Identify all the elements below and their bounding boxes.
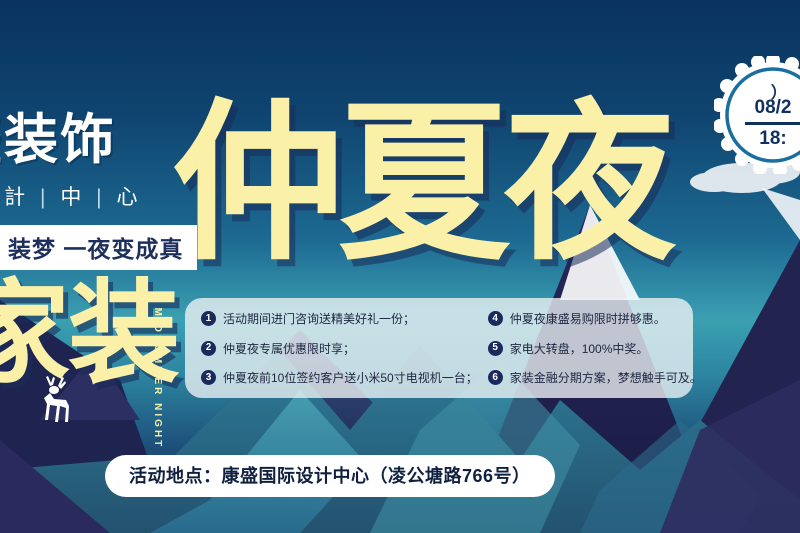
offers-panel: 1 活动期间进门咨询送精美好礼一份； 2 仲夏夜专属优惠限时享； 3 仲夏夜前1… <box>185 298 693 398</box>
brand-name: 盛装饰 <box>0 112 198 169</box>
offer-item: 2 仲夏夜专属优惠限时享； <box>201 340 478 357</box>
date-badge-divider <box>745 122 800 125</box>
offer-text: 家装金融分期方案，梦想触手可及。 <box>510 369 702 386</box>
offer-item: 4 仲夏夜康盛易购限时拼够惠。 <box>488 310 702 327</box>
offer-text: 家电大转盘，100%中奖。 <box>510 340 649 357</box>
offer-text: 仲夏夜康盛易购限时拼够惠。 <box>510 310 666 327</box>
deer-icon <box>28 372 80 426</box>
offer-item: 1 活动期间进门咨询送精美好礼一份； <box>201 310 478 327</box>
offer-number-badge: 2 <box>201 341 216 356</box>
offer-number-badge: 6 <box>488 370 503 385</box>
brand-subtitle-char-3: 心 <box>116 186 138 209</box>
offer-number-badge: 1 <box>201 311 216 326</box>
english-vertical-label: A MIDSUMMER NIGHT <box>152 292 163 449</box>
offer-number-badge: 5 <box>488 341 503 356</box>
offers-column-left: 1 活动期间进门咨询送精美好礼一份； 2 仲夏夜专属优惠限时享； 3 仲夏夜前1… <box>201 310 478 386</box>
offer-text: 仲夏夜专属优惠限时享； <box>223 340 355 357</box>
main-title: 仲夏夜 <box>172 98 670 270</box>
brand-tagline: 装梦 一夜变成真 <box>0 225 197 270</box>
offer-number-badge: 3 <box>201 370 216 385</box>
promo-poster: 家装 仲夏夜 A MIDSUMMER NIGHT 盛装饰 設 | 計 | 中 |… <box>0 0 800 533</box>
brand-subtitle-char-1: 計 <box>4 186 26 209</box>
brand-logo-block: 盛装饰 設 | 計 | 中 | 心 装梦 一夜变成真 <box>0 112 198 270</box>
offer-item: 3 仲夏夜前10位签约客户送小米50寸电视机一台； <box>201 369 478 386</box>
date-badge-time: 18: <box>759 128 786 150</box>
date-badge-top-mark: ） <box>771 79 787 103</box>
offer-item: 5 家电大转盘，100%中奖。 <box>488 340 702 357</box>
offer-text: 仲夏夜前10位签约客户送小米50寸电视机一台； <box>223 369 478 386</box>
separator-2: | <box>96 186 102 209</box>
date-badge: ） 08/2 18: <box>714 56 800 174</box>
offer-number-badge: 4 <box>488 311 503 326</box>
brand-subtitle-char-2: 中 <box>60 186 82 209</box>
offer-text: 活动期间进门咨询送精美好礼一份； <box>223 310 415 327</box>
offers-column-right: 4 仲夏夜康盛易购限时拼够惠。 5 家电大转盘，100%中奖。 6 家装金融分期… <box>488 310 702 386</box>
address-pill: 活动地点：康盛国际设计中心（凌公塘路766号） <box>105 455 555 497</box>
brand-subtitle: 設 | 計 | 中 | 心 <box>0 181 198 211</box>
separator-1: | <box>40 186 46 209</box>
offer-item: 6 家装金融分期方案，梦想触手可及。 <box>488 369 702 386</box>
